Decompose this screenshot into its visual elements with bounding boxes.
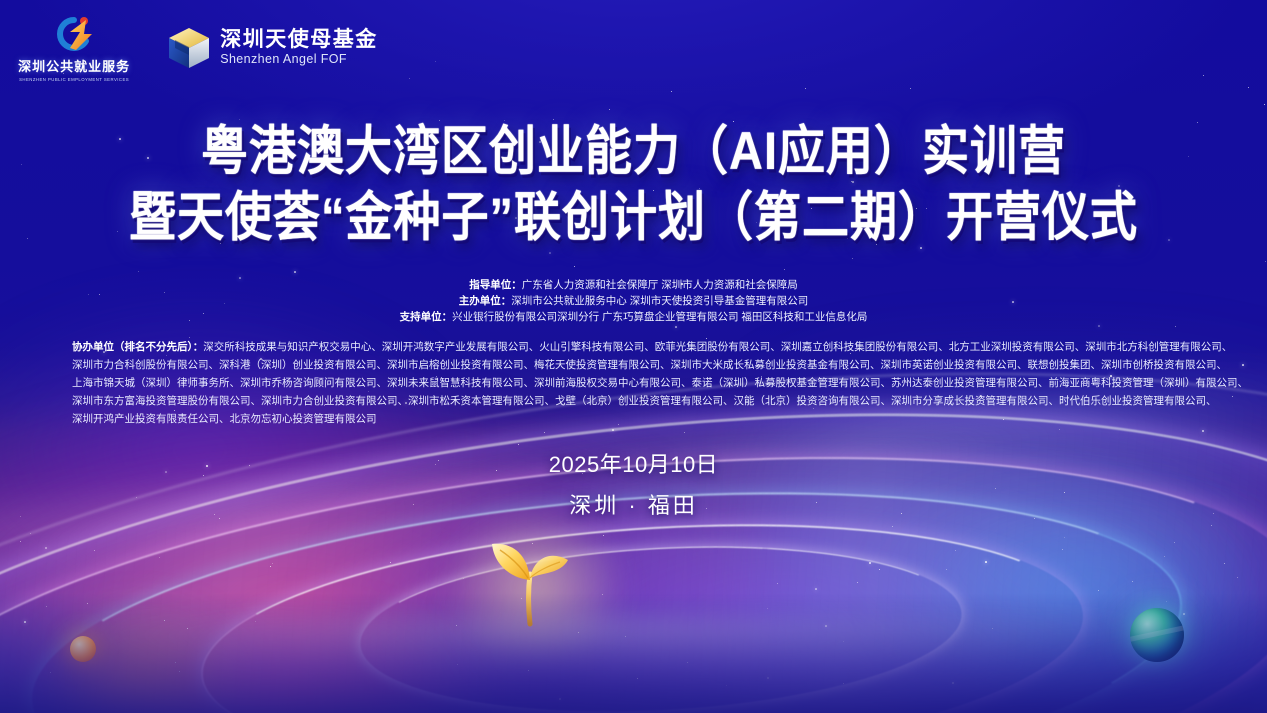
star (1064, 537, 1065, 538)
star (612, 429, 614, 431)
star (518, 444, 519, 445)
star (784, 269, 785, 270)
star (435, 61, 436, 62)
star (805, 88, 806, 89)
star (910, 88, 911, 89)
logo-shenzhen-angel-fof: 深圳天使母基金 Shenzhen Angel FOF (166, 25, 378, 71)
organizer-value-host: 深圳市公共就业服务中心 深圳市天使投资引导基金管理有限公司 (511, 295, 808, 307)
star (684, 432, 685, 433)
co-organizer-label: 协办单位（排名不分先后）： (72, 341, 203, 353)
star (94, 550, 95, 551)
co-organizer-row-3: 上海市锦天城（深圳）律师事务所、深圳市乔杨咨询顾问有限公司、深圳未来鼠智慧科技有… (72, 374, 1195, 392)
star (815, 588, 817, 590)
star (574, 266, 575, 267)
logo-a-chinese-name: 深圳公共就业服务 (18, 56, 130, 75)
poster-canvas: 深圳公共就业服务 SHENZHEN PUBLIC EMPLOYMENT SERV… (0, 0, 1267, 713)
star (892, 526, 893, 527)
event-info: 2025年10月10日 深圳 · 福田 (0, 447, 1267, 520)
star (138, 271, 139, 272)
star (1265, 261, 1266, 262)
organizer-label-support: 支持单位： (400, 311, 453, 323)
star (879, 569, 880, 570)
star (1059, 429, 1060, 430)
star (852, 258, 853, 259)
bottom-vignette (0, 593, 1267, 713)
title-line-1: 粤港澳大湾区创业能力（AI应用）实训营 (0, 114, 1267, 188)
star (1224, 563, 1225, 564)
organizer-label-host: 主办单位： (459, 295, 512, 307)
star (1174, 542, 1175, 543)
star (1098, 590, 1099, 591)
star (857, 582, 858, 583)
co-organizer-block: 协办单位（排名不分先后）：深交所科技成果与知识产权交易中心、深圳开鸿数字产业发展… (72, 338, 1195, 428)
co-organizer-row-1: 协办单位（排名不分先后）：深交所科技成果与知识产权交易中心、深圳开鸿数字产业发展… (72, 338, 1195, 356)
logo-shenzhen-public-employment-services: 深圳公共就业服务 SHENZHEN PUBLIC EMPLOYMENT SERV… (18, 14, 130, 82)
logo-a-english-name: SHENZHEN PUBLIC EMPLOYMENT SERVICES (19, 77, 129, 82)
star (409, 78, 410, 79)
star (1232, 396, 1233, 397)
co-organizer-line-1: 深交所科技成果与知识产权交易中心、深圳开鸿数字产业发展有限公司、火山引擎科技有限… (203, 341, 1232, 353)
organizer-label-guidance: 指导单位： (469, 279, 522, 291)
star (30, 533, 31, 534)
star (946, 569, 947, 570)
star (1237, 577, 1238, 578)
co-organizer-row-4: 深圳市东方富海投资管理股份有限公司、深圳市力合创业投资有限公司、深圳市松禾资本管… (72, 392, 1195, 410)
title-line-2: 暨天使荟“金种子”联创计划（第二期）开营仪式 (0, 180, 1267, 254)
star (675, 326, 677, 328)
star (1242, 364, 1244, 366)
organizer-value-support: 兴业银行股份有限公司深圳分行 广东巧算盘企业管理有限公司 福田区科技和工业信息化… (452, 311, 867, 323)
organizer-row-guidance: 指导单位：广东省人力资源和社会保障厅 深圳市人力资源和社会保障局 (0, 277, 1267, 293)
co-organizer-line-5: 深圳开鸿产业投资有限责任公司、北京勿忘初心投资管理有限公司 (72, 413, 377, 425)
star (1175, 326, 1176, 327)
logo-b-chinese-name: 深圳天使母基金 (220, 29, 378, 51)
star (609, 109, 610, 110)
star (671, 91, 672, 92)
co-organizer-row-5: 深圳开鸿产业投资有限责任公司、北京勿忘初心投资管理有限公司 (72, 410, 1195, 428)
star (1062, 549, 1063, 550)
star (270, 566, 271, 567)
star (777, 583, 778, 584)
event-date: 2025年10月10日 (0, 447, 1267, 479)
event-location: 深圳 · 福田 (0, 488, 1267, 520)
poster-title: 粤港澳大湾区创业能力（AI应用）实训营 暨天使荟“金种子”联创计划（第二期）开营… (0, 118, 1267, 250)
star (390, 562, 391, 563)
star (20, 541, 21, 542)
co-organizer-line-3: 上海市锦天城（深圳）律师事务所、深圳市乔杨咨询顾问有限公司、深圳未来鼠智慧科技有… (72, 377, 1248, 389)
co-organizer-row-2: 深圳市力合科创股份有限公司、深科港（深圳）创业投资有限公司、深圳市启榕创业投资有… (72, 356, 1195, 374)
star (544, 432, 545, 433)
star (294, 271, 296, 273)
co-organizer-line-2: 深圳市力合科创股份有限公司、深科港（深圳）创业投资有限公司、深圳市启榕创业投资有… (72, 359, 1227, 371)
organizer-value-guidance: 广东省人力资源和社会保障厅 深圳市人力资源和社会保障局 (522, 279, 798, 291)
star (159, 557, 160, 558)
organizer-block: 指导单位：广东省人力资源和社会保障厅 深圳市人力资源和社会保障局 主办单位：深圳… (0, 277, 1267, 325)
star (1211, 525, 1212, 526)
organizer-row-host: 主办单位：深圳市公共就业服务中心 深圳市天使投资引导基金管理有限公司 (0, 293, 1267, 309)
star (1264, 104, 1265, 105)
organizer-row-support: 支持单位：兴业银行股份有限公司深圳分行 广东巧算盘企业管理有限公司 福田区科技和… (0, 309, 1267, 325)
star (1098, 325, 1100, 327)
logo-b-english-name: Shenzhen Angel FOF (220, 53, 378, 66)
star (1164, 556, 1165, 557)
employment-service-mark-icon (40, 14, 108, 54)
star (955, 550, 956, 551)
logo-bar: 深圳公共就业服务 SHENZHEN PUBLIC EMPLOYMENT SERV… (18, 14, 378, 82)
co-organizer-line-4: 深圳市东方富海投资管理股份有限公司、深圳市力合创业投资有限公司、深圳市松禾资本管… (72, 395, 1217, 407)
cube-icon (166, 25, 212, 71)
star (1248, 87, 1249, 88)
star (985, 561, 987, 563)
star (1203, 75, 1204, 76)
star (272, 563, 273, 564)
